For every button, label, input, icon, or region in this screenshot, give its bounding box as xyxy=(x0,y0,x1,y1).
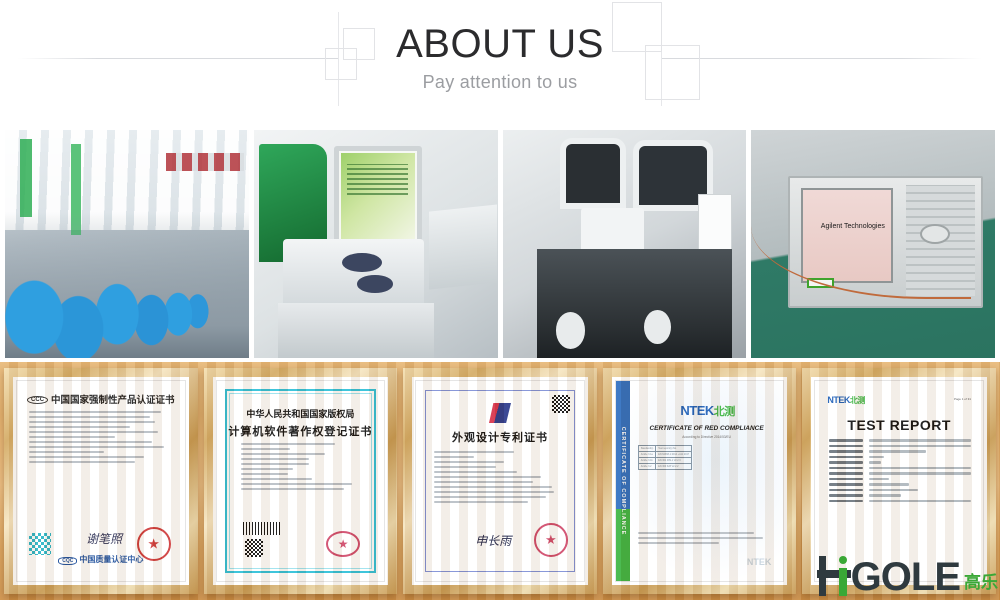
red-shelf-icon xyxy=(166,153,244,171)
machine-oval-2-icon xyxy=(357,275,394,293)
factory-photo-strip: Agilent Technologies xyxy=(5,130,995,358)
certificate-design-patent[interactable]: 外观设计专利证书 申长雨 xyxy=(403,368,597,594)
certificate-software-copyright-paper: 中华人民共和国国家版权局 计算机软件著作权登记证书 xyxy=(216,380,386,582)
list-item xyxy=(829,439,971,442)
certificate-ntek-test-report[interactable]: NTEK北测 Page 1 of 31 TEST REPORT xyxy=(802,368,996,594)
photo-smt-inspection-machine xyxy=(254,130,498,358)
about-us-page: ABOUT US Pay attention to us xyxy=(0,0,1000,600)
list-item xyxy=(829,461,971,464)
certificate-sw-body-lines xyxy=(241,443,365,493)
qr-code-icon xyxy=(552,395,570,413)
certificate-ccc-header: CCC中国国家强制性产品认证证书 xyxy=(17,392,185,406)
certificate-ntek-red-compliance[interactable]: CERTIFICATE OF COMPLIANCE NTEK北测 CERTIFI… xyxy=(603,368,797,594)
certificate-ccc-title: 中国国家强制性产品认证证书 xyxy=(51,395,175,406)
photo-pick-and-place-machines xyxy=(503,130,747,358)
list-item xyxy=(829,456,971,459)
certificate-test-report-paper: NTEK北测 Page 1 of 31 TEST REPORT xyxy=(814,380,984,582)
certificate-design-patent-paper: 外观设计专利证书 申长雨 xyxy=(415,380,585,582)
ntek-watermark-label: NTEK xyxy=(747,557,772,567)
certificate-patent-signature: 申长雨 xyxy=(475,532,511,549)
machine-body-icon xyxy=(283,239,424,307)
certificate-ccc-body-lines xyxy=(29,411,173,466)
machine-hood-1-icon xyxy=(566,144,620,203)
red-seal-icon xyxy=(326,531,360,557)
certificate-ccc-paper: CCC中国国家强制性产品认证证书 谢笔照 CQC中国质量认证中心 xyxy=(16,380,186,582)
table-row: Article 3.2 EN 300 328 V2.2.2 xyxy=(638,464,691,470)
certificate-sw-title-line2: 计算机软件著作权登记证书 xyxy=(217,423,385,439)
ntek-logo-label: NTEK xyxy=(827,395,850,405)
certificate-ntek-subtitle: According to Directive 2014/53/EU xyxy=(638,435,776,439)
list-item xyxy=(829,472,971,475)
ccc-mark-icon: CCC xyxy=(27,396,48,404)
certificate-strip: CCC中国国家强制性产品认证证书 谢笔照 CQC中国质量认证中心 xyxy=(0,362,1000,600)
certificate-ccc-signature: 谢笔照 xyxy=(86,530,122,547)
list-item xyxy=(829,467,971,470)
list-item xyxy=(829,478,971,481)
certificate-ntek-footer-lines xyxy=(638,532,774,547)
list-item xyxy=(829,489,971,492)
certificate-ntek-table: Standard(s) Test report(s) No. Article 3… xyxy=(638,445,692,470)
page-label: Page 1 of 31 xyxy=(954,397,971,401)
ntek-logo-cn-label: 北测 xyxy=(714,406,735,418)
table-cell-standard: EN 300 328 V2.2.2 xyxy=(656,464,692,470)
certificate-patent-body-lines xyxy=(434,451,568,506)
conveyor-arm-icon xyxy=(429,204,497,289)
cqc-mark-icon: CQC xyxy=(58,557,77,565)
qr-code-icon xyxy=(29,533,51,555)
certificate-software-copyright[interactable]: 中华人民共和国国家版权局 计算机软件著作权登记证书 xyxy=(204,368,398,594)
list-item xyxy=(829,450,971,453)
compliance-side-band: CERTIFICATE OF COMPLIANCE xyxy=(616,381,630,581)
certificate-test-report-fields xyxy=(829,439,971,505)
list-item xyxy=(829,483,971,486)
certificate-sw-title-line1: 中华人民共和国国家版权局 xyxy=(217,407,385,420)
compliance-side-band-label: CERTIFICATE OF COMPLIANCE xyxy=(620,427,626,536)
certificate-ccc-issuer-label: 中国质量认证中心 xyxy=(79,555,143,564)
certificate-ccc[interactable]: CCC中国国家强制性产品认证证书 谢笔照 CQC中国质量认证中心 xyxy=(4,368,198,594)
ntek-logo-cn-label: 北测 xyxy=(850,396,865,405)
list-item xyxy=(829,445,971,448)
machine-base-icon xyxy=(278,303,434,358)
ntek-logo: NTEK北测 xyxy=(642,403,774,419)
certificate-test-report-title: TEST REPORT xyxy=(815,417,983,433)
component-reel-1-icon xyxy=(556,312,585,348)
green-panel-2-icon xyxy=(71,144,81,235)
page-subtitle: Pay attention to us xyxy=(0,72,1000,93)
ntek-logo: NTEK北测 xyxy=(827,395,865,406)
red-seal-icon xyxy=(534,523,568,557)
photo-assembly-line xyxy=(5,130,249,358)
certificate-ntek-title: CERTIFICATE OF RED COMPLIANCE xyxy=(638,425,776,432)
component-reel-2-icon xyxy=(644,310,671,344)
qr-code-icon xyxy=(245,539,263,557)
page-header: ABOUT US Pay attention to us xyxy=(0,0,1000,128)
green-panel-icon xyxy=(20,139,32,217)
ntek-logo-label: NTEK xyxy=(680,403,713,418)
table-cell-article: Article 3.2 xyxy=(638,464,656,470)
machine-monitor-icon xyxy=(334,146,422,249)
list-item xyxy=(829,500,971,503)
list-item xyxy=(829,494,971,497)
certificate-ccc-issuer: CQC中国质量认证中心 xyxy=(17,554,185,565)
header-text-block: ABOUT US Pay attention to us xyxy=(0,0,1000,93)
certificate-patent-title: 外观设计专利证书 xyxy=(416,429,584,445)
photo-agilent-test-equipment: Agilent Technologies xyxy=(751,130,995,358)
machine-oval-1-icon xyxy=(342,253,382,272)
certificate-ntek-paper: CERTIFICATE OF COMPLIANCE NTEK北测 CERTIFI… xyxy=(615,380,785,582)
barcode-icon xyxy=(243,522,281,535)
rf-cable-icon xyxy=(751,208,970,299)
page-title: ABOUT US xyxy=(0,22,1000,66)
